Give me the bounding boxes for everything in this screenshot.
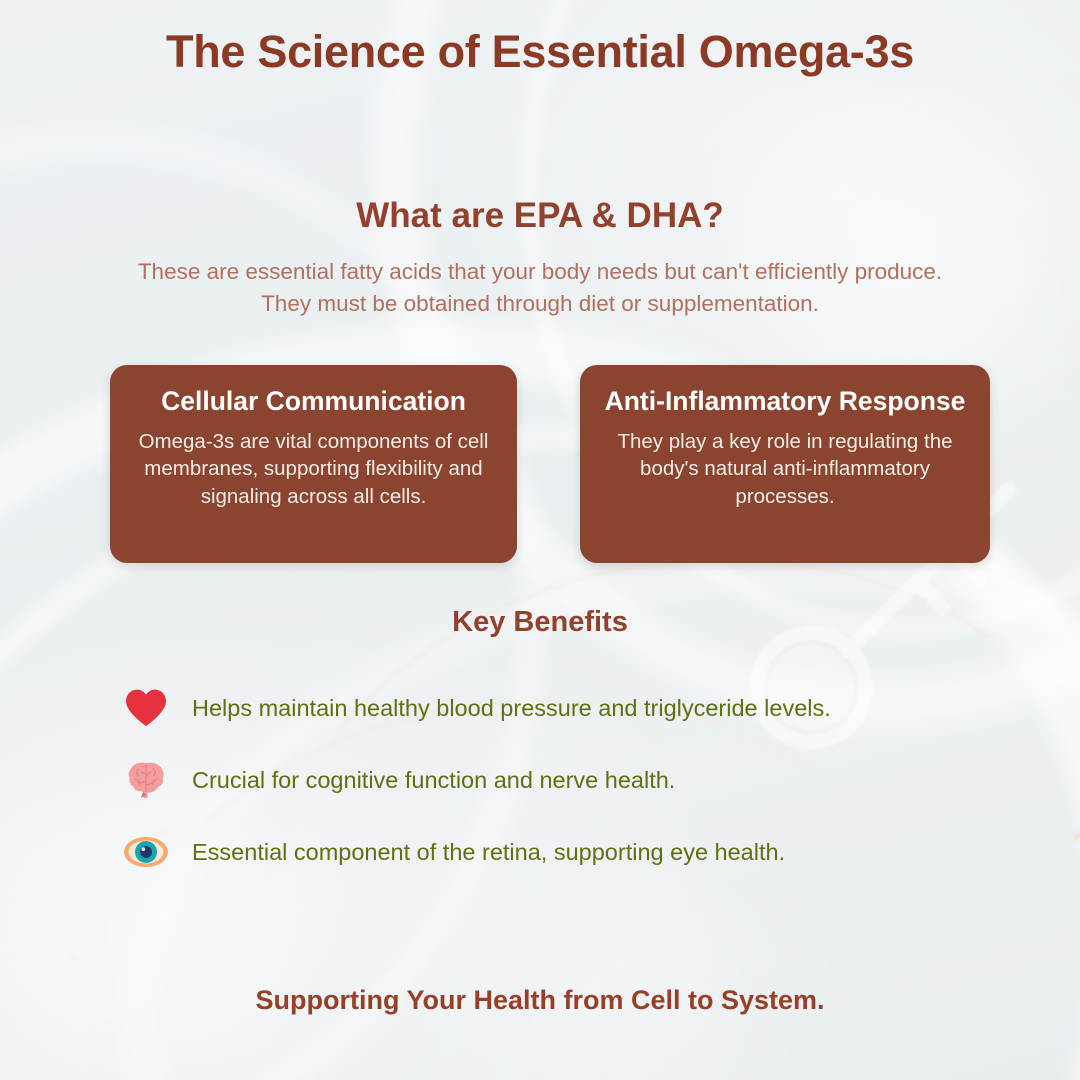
intro-paragraph: These are essential fatty acids that you…	[110, 256, 970, 320]
footer-tagline: Supporting Your Health from Cell to Syst…	[90, 985, 990, 1016]
info-card-cellular-communication: Cellular Communication Omega-3s are vita…	[110, 365, 517, 563]
section-heading-epa-dha: What are EPA & DHA?	[90, 196, 990, 236]
benefit-text: Essential component of the retina, suppo…	[192, 837, 785, 868]
info-card-body: They play a key role in regulating the b…	[600, 428, 970, 510]
eye-icon	[120, 830, 172, 874]
poster-content: The Science of Essential Omega-3s What a…	[0, 0, 1080, 1080]
list-item: Helps maintain healthy blood pressure an…	[120, 672, 1000, 744]
info-card-group: Cellular Communication Omega-3s are vita…	[110, 365, 990, 563]
info-card-title: Anti-Inflammatory Response	[600, 383, 970, 419]
benefit-text: Helps maintain healthy blood pressure an…	[192, 693, 831, 724]
info-card-body: Omega-3s are vital components of cell me…	[130, 428, 497, 510]
benefit-text: Crucial for cognitive function and nerve…	[192, 765, 675, 796]
benefits-list: Helps maintain healthy blood pressure an…	[120, 672, 1000, 888]
heart-icon	[120, 686, 172, 730]
list-item: Essential component of the retina, suppo…	[120, 816, 1000, 888]
list-item: Crucial for cognitive function and nerve…	[120, 744, 1000, 816]
benefits-heading: Key Benefits	[90, 606, 990, 639]
brain-icon	[120, 758, 172, 802]
infographic-poster: The Science of Essential Omega-3s What a…	[0, 0, 1080, 1080]
page-title: The Science of Essential Omega-3s	[90, 22, 990, 82]
info-card-title: Cellular Communication	[130, 383, 497, 419]
info-card-anti-inflammatory-response: Anti-Inflammatory Response They play a k…	[580, 365, 990, 563]
